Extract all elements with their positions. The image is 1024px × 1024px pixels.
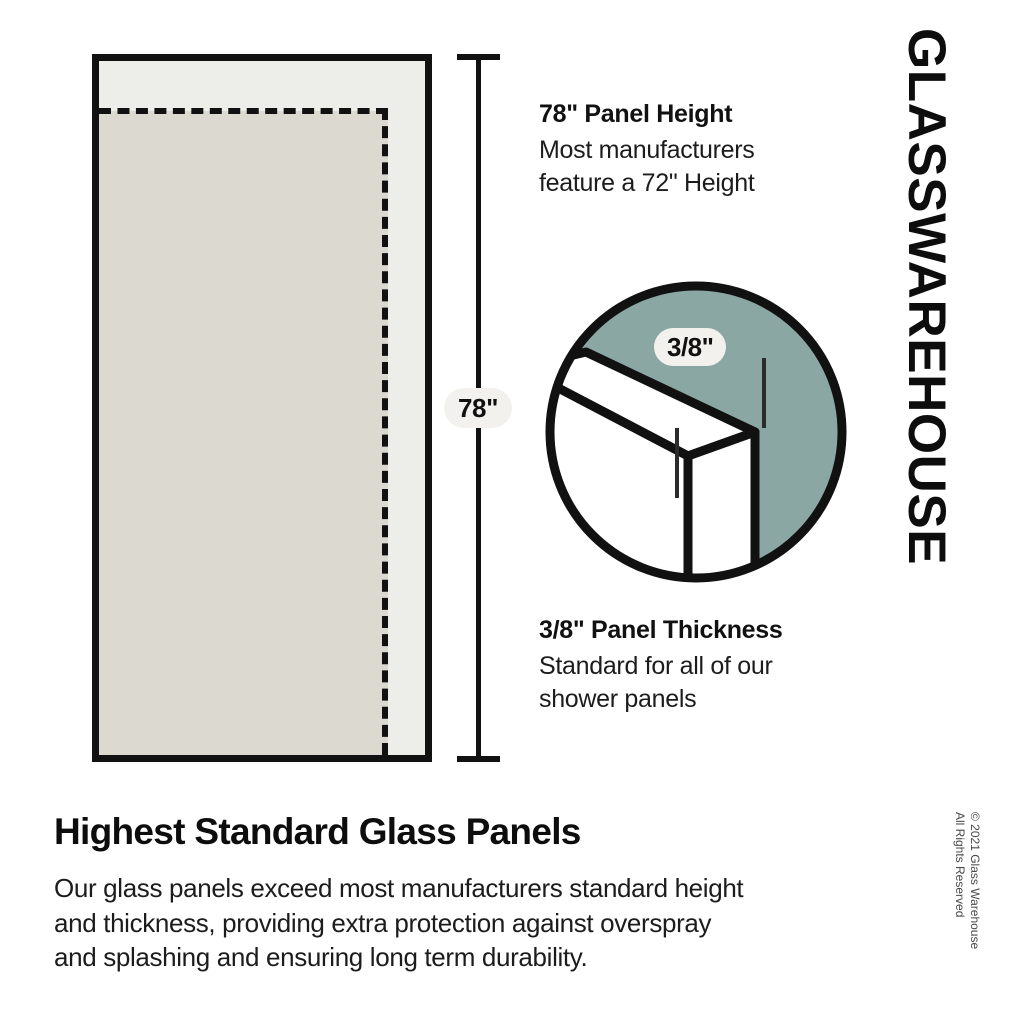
thickness-label: 3/8" <box>654 328 726 366</box>
callout-height-body-line1: Most manufacturers <box>539 134 889 167</box>
brand-wordmark: GLASSWAREHOUSE <box>900 28 1024 608</box>
callout-thickness-body-line2: shower panels <box>539 683 889 716</box>
copyright-notice: © 2021 Glass Warehouse All Rights Reserv… <box>952 812 1012 992</box>
copyright-line-2: All Rights Reserved <box>952 812 967 949</box>
callout-height-heading: 78" Panel Height <box>539 100 889 130</box>
brand-wordmark-text: GLASSWAREHOUSE <box>900 28 953 565</box>
infographic-canvas: 78" 78" Panel Height Most manufacturers … <box>0 0 1024 1024</box>
panel-standard-height-fill <box>99 111 388 755</box>
bottom-paragraph-line2: and thickness, providing extra protectio… <box>54 906 894 941</box>
panel-dashed-right-edge <box>382 108 388 755</box>
bottom-text-block: Highest Standard Glass Panels Our glass … <box>54 812 894 975</box>
callout-thickness-body-line1: Standard for all of our <box>539 650 889 683</box>
glass-edge-face <box>688 432 755 586</box>
panel-dashed-top-edge <box>99 108 388 114</box>
bottom-paragraph-line3: and splashing and ensuring long term dur… <box>54 940 894 975</box>
height-dimension-label: 78" <box>444 388 512 428</box>
callout-panel-thickness: 3/8" Panel Thickness Standard for all of… <box>539 616 889 716</box>
height-dimension-line: 78" <box>456 54 500 762</box>
bottom-paragraph-line1: Our glass panels exceed most manufacture… <box>54 871 894 906</box>
thickness-detail-diagram: 3/8" <box>540 280 852 586</box>
copyright-line-1: © 2021 Glass Warehouse <box>967 812 982 949</box>
callout-height-body-line2: feature a 72" Height <box>539 167 889 200</box>
glass-panel-figure <box>92 54 432 762</box>
dimension-cap-bottom <box>457 756 500 762</box>
thickness-detail-svg <box>540 280 852 586</box>
callout-thickness-heading: 3/8" Panel Thickness <box>539 616 889 646</box>
bottom-title: Highest Standard Glass Panels <box>54 812 894 853</box>
callout-panel-height: 78" Panel Height Most manufacturers feat… <box>539 100 889 200</box>
